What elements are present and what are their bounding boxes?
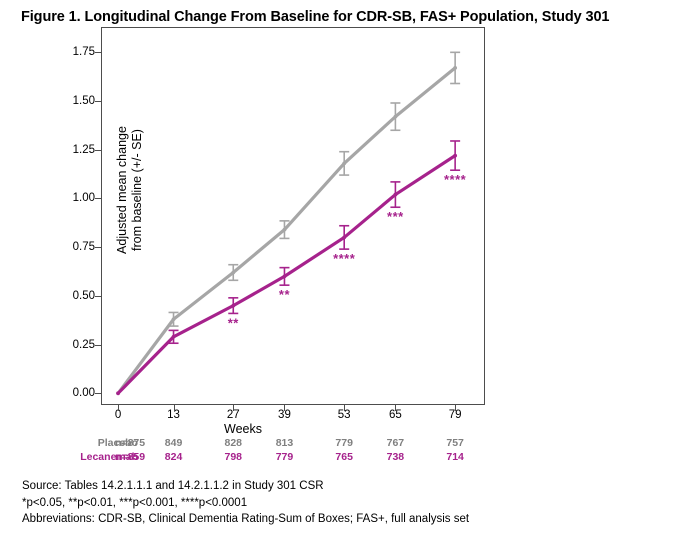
- data-point: [172, 335, 176, 339]
- x-tick-mark: [174, 405, 175, 411]
- y-tick-label: 0.25: [73, 339, 95, 351]
- y-tick-mark: [95, 101, 101, 102]
- data-point: [172, 317, 176, 321]
- footnote-line: *p<0.05, **p<0.01, ***p<0.001, ****p<0.0…: [22, 495, 469, 512]
- data-line: [118, 68, 455, 393]
- data-point: [453, 154, 457, 158]
- n-value: 824: [165, 451, 183, 463]
- x-tick-mark: [395, 405, 396, 411]
- x-tick-mark: [344, 405, 345, 411]
- y-tick-label: 1.50: [73, 95, 95, 107]
- y-tick-mark: [95, 393, 101, 394]
- n-value: 767: [387, 437, 405, 449]
- significance-marker: ****: [333, 251, 356, 266]
- data-line: [118, 156, 455, 394]
- significance-marker: **: [228, 315, 240, 330]
- y-tick-label: 1.00: [73, 192, 95, 204]
- footnotes: Source: Tables 14.2.1.1.1 and 14.2.1.1.2…: [22, 478, 469, 528]
- y-tick-mark: [95, 52, 101, 53]
- x-tick-mark: [455, 405, 456, 411]
- n-value: 765: [335, 451, 353, 463]
- data-point: [116, 391, 120, 395]
- data-point: [231, 304, 235, 308]
- y-axis-title: Adjusted mean change from baseline (+/- …: [115, 75, 145, 305]
- data-point: [283, 228, 287, 232]
- n-value: 779: [335, 437, 353, 449]
- y-tick-label: 0.50: [73, 290, 95, 302]
- data-point: [231, 271, 235, 275]
- subject-count-table: Placebon=875849828813779767757Lecanemabn…: [0, 437, 700, 467]
- y-tick-mark: [95, 150, 101, 151]
- x-axis-title-wrap: Weeks: [0, 422, 700, 436]
- n-value: 798: [225, 451, 243, 463]
- footnote-line: Abbreviations: CDR-SB, Clinical Dementia…: [22, 511, 469, 528]
- data-point: [453, 66, 457, 70]
- x-tick-mark: [233, 405, 234, 411]
- n-value: 779: [276, 451, 294, 463]
- n-value: 714: [446, 451, 464, 463]
- page-title: Figure 1. Longitudinal Change From Basel…: [21, 9, 609, 25]
- y-tick-mark: [95, 296, 101, 297]
- significance-marker: **: [279, 287, 291, 302]
- y-tick-mark: [95, 198, 101, 199]
- y-axis-tick-labels: 0.000.250.500.751.001.251.501.75: [55, 27, 95, 405]
- n-value: 813: [276, 437, 294, 449]
- series-lecanemab: ***************: [116, 141, 467, 395]
- n-value: 738: [387, 451, 405, 463]
- y-tick-label: 0.00: [73, 387, 95, 399]
- chart-svg: ***************: [101, 27, 485, 405]
- data-point: [394, 193, 398, 197]
- significance-marker: ****: [444, 172, 467, 187]
- x-tick-mark: [118, 405, 119, 411]
- n-value: n=859: [115, 451, 145, 463]
- x-axis-title: Weeks: [224, 422, 262, 436]
- n-value: 828: [225, 437, 243, 449]
- data-point: [342, 236, 346, 240]
- n-value: n=875: [115, 437, 145, 449]
- y-tick-label: 0.75: [73, 241, 95, 253]
- footnote-line: Source: Tables 14.2.1.1.1 and 14.2.1.1.2…: [22, 478, 469, 495]
- y-tick-label: 1.75: [73, 46, 95, 58]
- data-point: [283, 275, 287, 279]
- data-point: [394, 115, 398, 119]
- data-point: [342, 161, 346, 165]
- y-tick-mark: [95, 345, 101, 346]
- y-tick-mark: [95, 247, 101, 248]
- significance-marker: ***: [387, 209, 404, 224]
- n-value: 849: [165, 437, 183, 449]
- y-tick-label: 1.25: [73, 144, 95, 156]
- chart-plot-area: *************** Adjusted mean change fro…: [101, 27, 485, 405]
- n-value: 757: [446, 437, 464, 449]
- x-tick-mark: [284, 405, 285, 411]
